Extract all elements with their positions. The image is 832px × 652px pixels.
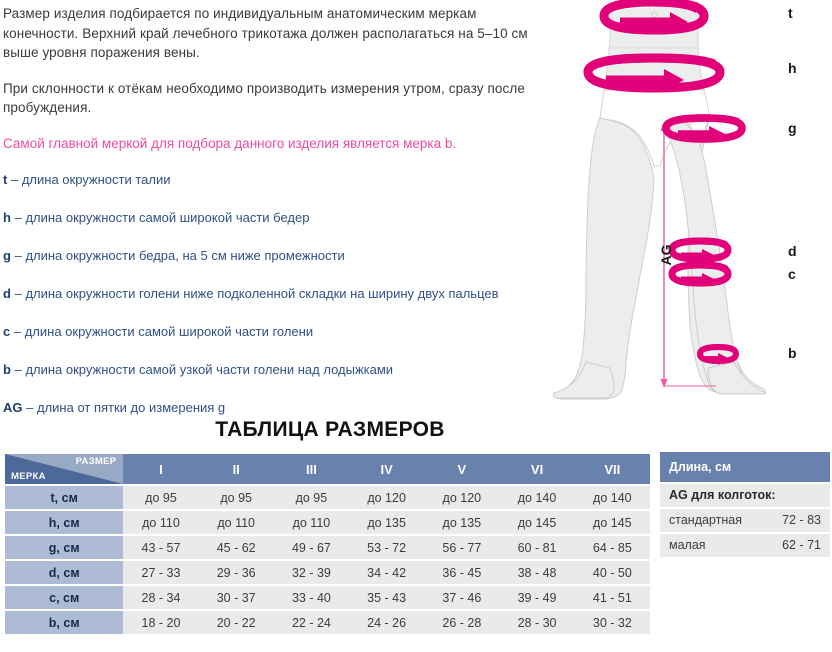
cell-h-7: до 145 — [575, 511, 650, 534]
size-column-header-5: V — [424, 454, 499, 484]
size-table-head: РАЗМЕР МЕРКА I II III IV V VI VII — [5, 454, 650, 484]
main-size-table: РАЗМЕР МЕРКА I II III IV V VI VII t, см … — [5, 452, 650, 636]
table-row: c, см 28 - 34 30 - 37 33 - 40 35 - 43 37… — [5, 586, 650, 609]
anatomy-diagram: AG t h g d c b — [548, 0, 832, 410]
cell-d-3: 32 - 39 — [274, 561, 349, 584]
legend-text-t: длина окружности талии — [22, 172, 171, 187]
cell-g-1: 43 - 57 — [123, 536, 198, 559]
cell-c-6: 39 - 49 — [499, 586, 574, 609]
cell-d-4: 34 - 42 — [349, 561, 424, 584]
key-measurement-note: Самой главной меркой для подбора данного… — [3, 134, 548, 154]
row-label-c: c, см — [5, 586, 123, 609]
figure-label-b: b — [788, 345, 797, 361]
side-row-value-standard: 72 - 83 — [782, 509, 821, 532]
legend-text-b: длина окружности самой узкой части голен… — [25, 362, 393, 377]
text-column: Размер изделия подбирается по индивидуал… — [0, 0, 548, 437]
corner-size-label: РАЗМЕР — [76, 456, 117, 467]
legend-dash-t: – — [11, 172, 18, 187]
row-label-b: b, см — [5, 611, 123, 634]
ag-axis-label: AG — [658, 244, 674, 265]
cell-h-4: до 135 — [349, 511, 424, 534]
length-side-table: Длина, см AG для колготок: стандартная 7… — [660, 452, 830, 557]
legend-text-h: длина окружности самой широкой части бед… — [25, 210, 309, 225]
table-row: h, см до 110 до 110 до 110 до 135 до 135… — [5, 511, 650, 534]
legend-item-h: h – длина окружности самой широкой части… — [3, 209, 548, 226]
intro-paragraph-1: Размер изделия подбирается по индивидуал… — [3, 4, 548, 63]
cell-c-4: 35 - 43 — [349, 586, 424, 609]
legend-key-g: g — [3, 248, 11, 263]
side-table-subtitle-row: AG для колготок: — [660, 484, 830, 507]
cell-g-5: 56 - 77 — [424, 536, 499, 559]
size-column-header-6: VI — [499, 454, 574, 484]
cell-g-7: 64 - 85 — [575, 536, 650, 559]
legend-dash-g: – — [15, 248, 22, 263]
legend-dash-d: – — [15, 286, 22, 301]
measurement-legend-list: t – длина окружности талии h – длина окр… — [3, 171, 548, 416]
legend-key-d: d — [3, 286, 11, 301]
row-label-h: h, см — [5, 511, 123, 534]
table-row: b, см 18 - 20 20 - 22 22 - 24 24 - 26 26… — [5, 611, 650, 634]
side-row-name-small: малая — [669, 534, 706, 557]
cell-b-1: 18 - 20 — [123, 611, 198, 634]
cell-b-4: 24 - 26 — [349, 611, 424, 634]
figure-label-d: d — [788, 243, 797, 259]
size-tables: РАЗМЕР МЕРКА I II III IV V VI VII t, см … — [0, 452, 832, 652]
legend-item-g: g – длина окружности бедра, на 5 см ниже… — [3, 247, 548, 264]
side-row-name-standard: стандартная — [669, 509, 742, 532]
cell-d-2: 29 - 36 — [199, 561, 274, 584]
cell-g-6: 60 - 81 — [499, 536, 574, 559]
cell-b-2: 20 - 22 — [199, 611, 274, 634]
corner-measure-label: МЕРКА — [11, 471, 46, 482]
legend-dash-c: – — [14, 324, 21, 339]
legend-key-c: c — [3, 324, 10, 339]
corner-header-cell: РАЗМЕР МЕРКА — [5, 454, 123, 484]
legend-text-c: длина окружности самой широкой части гол… — [25, 324, 313, 339]
size-column-header-4: IV — [349, 454, 424, 484]
size-column-header-7: VII — [575, 454, 650, 484]
legend-item-ag: AG – длина от пятки до измерения g — [3, 399, 548, 416]
side-table-header: Длина, см — [660, 452, 830, 482]
legend-key-h: h — [3, 210, 11, 225]
row-label-d: d, см — [5, 561, 123, 584]
legend-item-b: b – длина окружности самой узкой части г… — [3, 361, 548, 378]
cell-h-3: до 110 — [274, 511, 349, 534]
table-row: g, см 43 - 57 45 - 62 49 - 67 53 - 72 56… — [5, 536, 650, 559]
side-table-subtitle: AG для колготок: — [669, 484, 776, 507]
intro-paragraph-2: При склонности к отёкам необходимо произ… — [3, 79, 548, 118]
cell-t-4: до 120 — [349, 486, 424, 509]
legend-dash-b: – — [15, 362, 22, 377]
cell-g-4: 53 - 72 — [349, 536, 424, 559]
table-row: d, см 27 - 33 29 - 36 32 - 39 34 - 42 36… — [5, 561, 650, 584]
cell-h-5: до 135 — [424, 511, 499, 534]
cell-d-1: 27 - 33 — [123, 561, 198, 584]
side-table-row-standard: стандартная 72 - 83 — [660, 509, 830, 532]
cell-d-7: 40 - 50 — [575, 561, 650, 584]
legend-dash-h: – — [15, 210, 22, 225]
legend-item-c: c – длина окружности самой широкой части… — [3, 323, 548, 340]
legend-text-ag: длина от пятки до измерения g — [37, 400, 225, 415]
cell-h-1: до 110 — [123, 511, 198, 534]
cell-c-1: 28 - 34 — [123, 586, 198, 609]
figure-label-h: h — [788, 60, 797, 76]
legend-text-g: длина окружности бедра, на 5 см ниже про… — [25, 248, 344, 263]
cell-c-2: 30 - 37 — [199, 586, 274, 609]
cell-g-2: 45 - 62 — [199, 536, 274, 559]
figure-label-c: c — [788, 266, 796, 282]
cell-b-3: 22 - 24 — [274, 611, 349, 634]
cell-c-7: 41 - 51 — [575, 586, 650, 609]
cell-b-5: 26 - 28 — [424, 611, 499, 634]
cell-c-3: 33 - 40 — [274, 586, 349, 609]
legend-item-t: t – длина окружности талии — [3, 171, 548, 188]
cell-h-6: до 145 — [499, 511, 574, 534]
cell-t-1: до 95 — [123, 486, 198, 509]
cell-b-6: 28 - 30 — [499, 611, 574, 634]
figure-label-t: t — [788, 5, 793, 21]
size-column-header-3: III — [274, 454, 349, 484]
table-divider — [654, 452, 656, 564]
table-row: t, см до 95 до 95 до 95 до 120 до 120 до… — [5, 486, 650, 509]
cell-d-6: 38 - 48 — [499, 561, 574, 584]
info-section: Размер изделия подбирается по индивидуал… — [0, 0, 832, 410]
cell-t-5: до 120 — [424, 486, 499, 509]
side-table-row-small: малая 62 - 71 — [660, 534, 830, 557]
size-table: РАЗМЕР МЕРКА I II III IV V VI VII t, см … — [5, 452, 650, 636]
row-label-g: g, см — [5, 536, 123, 559]
legend-text-d: длина окружности голени ниже подколенной… — [25, 286, 498, 301]
cell-g-3: 49 - 67 — [274, 536, 349, 559]
page-title: ТАБЛИЦА РАЗМЕРОВ — [0, 418, 660, 442]
cell-c-5: 37 - 46 — [424, 586, 499, 609]
row-label-t: t, см — [5, 486, 123, 509]
cell-b-7: 30 - 32 — [575, 611, 650, 634]
size-table-body: t, см до 95 до 95 до 95 до 120 до 120 до… — [5, 486, 650, 634]
legend-item-d: d – длина окружности голени ниже подколе… — [3, 285, 548, 302]
size-column-header-2: II — [199, 454, 274, 484]
cell-h-2: до 110 — [199, 511, 274, 534]
legend-key-t: t — [3, 172, 7, 187]
legend-key-ag: AG — [3, 400, 23, 415]
legend-key-b: b — [3, 362, 11, 377]
cell-t-3: до 95 — [274, 486, 349, 509]
cell-t-6: до 140 — [499, 486, 574, 509]
side-row-value-small: 62 - 71 — [782, 534, 821, 557]
figure-label-g: g — [788, 120, 797, 136]
cell-t-2: до 95 — [199, 486, 274, 509]
cell-d-5: 36 - 45 — [424, 561, 499, 584]
size-column-header-1: I — [123, 454, 198, 484]
cell-t-7: до 140 — [575, 486, 650, 509]
legend-dash-ag: – — [26, 400, 33, 415]
size-table-header-row: РАЗМЕР МЕРКА I II III IV V VI VII — [5, 454, 650, 484]
